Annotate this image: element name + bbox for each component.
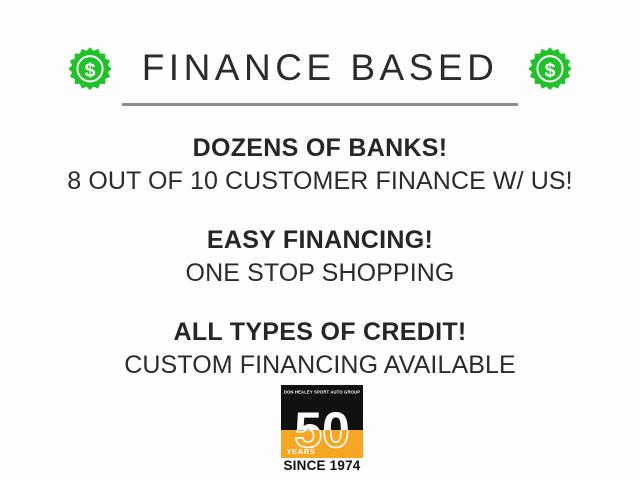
message-headline: DOZENS OF BANKS! [0, 132, 640, 165]
page-title: FINANCE BASED [130, 42, 510, 94]
message-block: EASY FINANCING! ONE STOP SHOPPING [0, 224, 640, 290]
title-divider [122, 103, 518, 106]
message-subline: CUSTOM FINANCING AVAILABLE [0, 349, 640, 382]
logo-since-text: SINCE 1974 [283, 458, 360, 473]
message-block: DOZENS OF BANKS! 8 OUT OF 10 CUSTOMER FI… [0, 132, 640, 198]
svg-text:$: $ [85, 59, 96, 81]
logo-years-label: YEARS [287, 447, 316, 456]
message-subline: ONE STOP SHOPPING [0, 257, 640, 290]
gear-dollar-icon: $ [64, 46, 116, 98]
message-blocks: DOZENS OF BANKS! 8 OUT OF 10 CUSTOMER FI… [0, 132, 640, 382]
message-headline: EASY FINANCING! [0, 224, 640, 257]
slide-header: $ FINANCE BASED $ [0, 42, 640, 110]
dealer-logo: DON HEALEY SPORT AUTO GROUP 50 50 YEARS … [281, 385, 363, 473]
message-block: ALL TYPES OF CREDIT! CUSTOM FINANCING AV… [0, 316, 640, 382]
message-subline: 8 OUT OF 10 CUSTOMER FINANCE W/ US! [0, 165, 640, 198]
svg-text:$: $ [545, 59, 556, 81]
logo-group-name: DON HEALEY SPORT AUTO GROUP [284, 390, 360, 395]
finance-based-slide: $ FINANCE BASED $ DOZENS OF BANKS! 8 OUT… [0, 0, 640, 480]
message-headline: ALL TYPES OF CREDIT! [0, 316, 640, 349]
gear-dollar-icon: $ [524, 46, 576, 98]
